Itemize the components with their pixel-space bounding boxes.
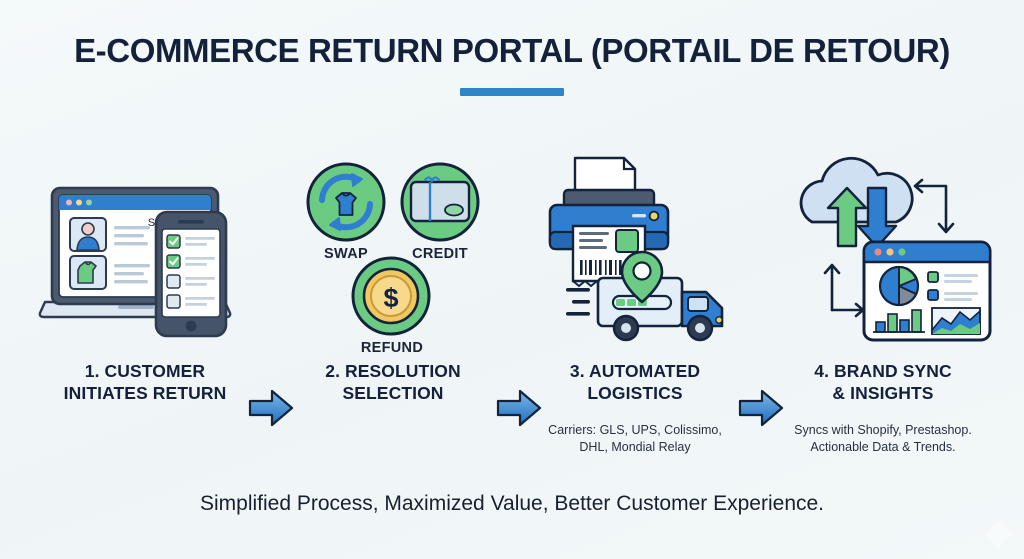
avatar-thumbnail xyxy=(70,218,106,251)
refund-option-icon: $ xyxy=(353,258,429,334)
footer-tagline: Simplified Process, Maximized Value, Bet… xyxy=(0,492,1024,516)
credit-label: CREDIT xyxy=(398,246,482,262)
step-2-resolution-selection: $ SWAP CREDIT REFUND 2. RESOLUTION SELEC… xyxy=(278,150,508,480)
step-1-caption: 1. CUSTOMER INITIATES RETURN xyxy=(30,360,260,405)
phone-checkbox-4 xyxy=(167,295,180,308)
pie-chart xyxy=(880,267,918,305)
step-4-brand-sync-and-insights: 4. BRAND SYNC & INSIGHTS Syncs with Shop… xyxy=(768,150,998,480)
step-3-automated-logistics: 3. AUTOMATED LOGISTICS Carriers: GLS, UP… xyxy=(520,150,750,480)
step-1-customer-initiates-return: Select Items xyxy=(30,150,260,480)
step-1-caption-line2: INITIATES RETURN xyxy=(30,382,260,404)
analytics-dashboard-icon xyxy=(864,242,990,340)
step-2-caption-line1: 2. RESOLUTION xyxy=(278,360,508,382)
swap-label: SWAP xyxy=(306,246,386,262)
step-1-caption-line1: 1. CUSTOMER xyxy=(30,360,260,382)
step-4-subcaption-line1: Syncs with Shopify, Prestashop. xyxy=(763,422,1003,439)
step-3-subcaption: Carriers: GLS, UPS, Colissimo, DHL, Mond… xyxy=(515,422,755,456)
smartphone-icon xyxy=(156,212,226,336)
process-steps: Select Items xyxy=(0,150,1024,480)
step-3-subcaption-line2: DHL, Mondial Relay xyxy=(515,439,755,456)
phone-checkbox-1 xyxy=(167,235,180,248)
step-2-caption-line2: SELECTION xyxy=(278,382,508,404)
step-3-caption-line1: 3. AUTOMATED xyxy=(520,360,750,382)
step-2-caption: 2. RESOLUTION SELECTION xyxy=(278,360,508,405)
corner-watermark-icon xyxy=(982,517,1016,551)
step-3-caption-line2: LOGISTICS xyxy=(520,382,750,404)
step-4-caption: 4. BRAND SYNC & INSIGHTS xyxy=(768,360,998,405)
refund-label: REFUND xyxy=(348,340,436,356)
cloud-sync-dashboard-illustration xyxy=(768,150,998,350)
printer-and-truck-illustration xyxy=(520,150,750,350)
step-3-caption: 3. AUTOMATED LOGISTICS xyxy=(520,360,750,405)
header: E-COMMERCE RETURN PORTAL (PORTAIL DE RET… xyxy=(0,32,1024,96)
swap-option-icon xyxy=(308,164,384,240)
area-chart xyxy=(932,308,980,334)
laptop-and-phone-illustration: Select Items xyxy=(30,150,260,350)
resolution-options-illustration: $ SWAP CREDIT REFUND xyxy=(278,150,508,350)
step-4-subcaption-line2: Actionable Data & Trends. xyxy=(763,439,1003,456)
step-4-caption-line1: 4. BRAND SYNC xyxy=(768,360,998,382)
step-3-subcaption-line1: Carriers: GLS, UPS, Colissimo, xyxy=(515,422,755,439)
phone-checkbox-2 xyxy=(167,255,180,268)
svg-text:$: $ xyxy=(383,283,398,313)
infographic-canvas: E-COMMERCE RETURN PORTAL (PORTAIL DE RET… xyxy=(0,0,1024,559)
page-title: E-COMMERCE RETURN PORTAL (PORTAIL DE RET… xyxy=(0,32,1024,70)
step-4-caption-line2: & INSIGHTS xyxy=(768,382,998,404)
credit-option-icon xyxy=(402,164,478,240)
title-underline-divider xyxy=(460,88,564,96)
step-4-subcaption: Syncs with Shopify, Prestashop. Actionab… xyxy=(763,422,1003,456)
tshirt-thumbnail xyxy=(70,256,106,289)
phone-checkbox-3 xyxy=(167,275,180,288)
